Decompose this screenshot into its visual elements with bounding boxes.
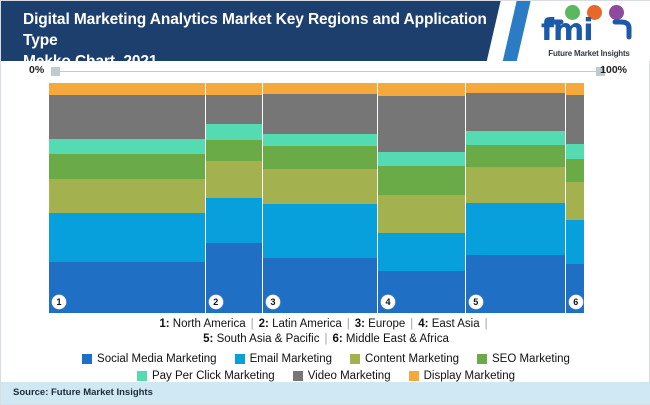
mekko-segment [263, 258, 377, 313]
region-key-separator: | [480, 318, 493, 330]
source-bar: Source: Future Market Insights [1, 382, 650, 404]
mekko-segment [49, 213, 205, 262]
mekko-segment [566, 159, 584, 182]
region-key-number: 5: [203, 333, 213, 345]
region-key-row-1: 1: North America|2: Latin America|3: Eur… [1, 317, 650, 332]
legend-label: Content Marketing [365, 353, 459, 365]
legend-item[interactable]: SEO Marketing [477, 353, 570, 365]
mekko-segment [49, 139, 205, 154]
legend-item[interactable]: Display Marketing [409, 370, 515, 382]
legend-item[interactable]: Email Marketing [235, 353, 332, 365]
mekko-segment [206, 124, 262, 140]
mekko-segment [206, 83, 262, 95]
legend-swatch-icon [409, 371, 419, 381]
mekko-segment [263, 146, 377, 169]
legend-label: Display Marketing [424, 370, 515, 382]
column-number-badge: 3 [266, 295, 280, 309]
mekko-segment [466, 83, 565, 93]
legend-swatch-icon [137, 371, 147, 381]
mekko-segment [466, 145, 565, 167]
mekko-column: 6 [566, 83, 584, 313]
legend-swatch-icon [293, 371, 303, 381]
column-number-badge: 5 [469, 295, 483, 309]
mekko-segment [378, 83, 465, 96]
legend-label: Email Marketing [250, 353, 332, 365]
region-key-number: 3: [355, 318, 365, 330]
mekko-segment [566, 220, 584, 264]
logo-tagline: Future Market Insights [535, 49, 643, 58]
region-key-label: Latin America [269, 318, 342, 330]
legend-item[interactable]: Social Media Marketing [82, 353, 217, 365]
mekko-segment [263, 204, 377, 259]
region-key-separator: | [342, 318, 355, 330]
mekko-segment [466, 167, 565, 203]
mekko-chart: 123456 [49, 83, 584, 313]
mekko-segment [206, 95, 262, 124]
region-key-separator: | [320, 333, 333, 345]
mekko-segment [378, 152, 465, 166]
mekko-segment [206, 198, 262, 243]
mekko-segment [206, 140, 262, 161]
axis-line [57, 71, 597, 72]
mekko-segment [49, 154, 205, 179]
legend-swatch-icon [350, 354, 360, 364]
legend-label: Video Marketing [308, 370, 391, 382]
mekko-segment [378, 233, 465, 271]
region-key-number: 6: [333, 333, 343, 345]
legend-swatch-icon [82, 354, 92, 364]
legend-label: Pay Per Click Marketing [152, 370, 275, 382]
mekko-segment [263, 134, 377, 146]
mekko-column: 5 [466, 83, 566, 313]
page-title: Digital Marketing Analytics Market Key R… [23, 9, 523, 61]
mekko-segment [566, 144, 584, 159]
mekko-segment [566, 182, 584, 220]
mekko-segment [263, 169, 377, 204]
region-key-label: Middle East & Africa [343, 333, 449, 345]
legend-label: Social Media Marketing [97, 353, 217, 365]
mekko-segment [378, 166, 465, 195]
mekko-segment [49, 262, 205, 313]
region-key-row-2: 5: South Asia & Pacific|6: Middle East &… [1, 332, 650, 347]
mekko-column: 4 [378, 83, 466, 313]
legend-swatch-icon [477, 354, 487, 364]
header-banner: Digital Marketing Analytics Market Key R… [1, 1, 650, 61]
fmi-logo: fmi Future Market Insights [531, 5, 643, 59]
mekko-segment [49, 83, 205, 95]
region-key-number: 2: [259, 318, 269, 330]
region-key-label: North America [170, 318, 246, 330]
mekko-column: 3 [263, 83, 378, 313]
mekko-segment [378, 195, 465, 233]
mekko-segment [566, 95, 584, 144]
chart-legend: Social Media MarketingEmail MarketingCon… [1, 350, 650, 384]
logo-wordmark: fmi [541, 13, 593, 48]
legend-item[interactable]: Video Marketing [293, 370, 391, 382]
column-number-badge: 4 [381, 295, 395, 309]
region-key-label: East Asia [429, 318, 480, 330]
source-text: Source: Future Market Insights [13, 387, 153, 398]
mekko-segment [566, 83, 584, 95]
percent-axis: 0% 100% [1, 63, 650, 81]
mekko-segment [49, 179, 205, 213]
legend-label: SEO Marketing [492, 353, 570, 365]
mekko-segment [466, 131, 565, 145]
mekko-segment [466, 93, 565, 131]
region-key-number: 4: [418, 318, 428, 330]
column-number-badge: 2 [209, 295, 223, 309]
axis-label-min: 0% [29, 64, 44, 76]
page-title-line-1: Digital Marketing Analytics Market Key R… [23, 9, 523, 51]
region-key: 1: North America|2: Latin America|3: Eur… [1, 317, 650, 347]
region-key-label: Europe [365, 318, 405, 330]
region-key-separator: | [246, 318, 259, 330]
mekko-segment [206, 161, 262, 198]
mekko-segment [49, 95, 205, 139]
mekko-column: 2 [206, 83, 263, 313]
column-number-badge: 6 [569, 295, 583, 309]
mekko-segment [263, 94, 377, 134]
mekko-segment [466, 203, 565, 255]
legend-item[interactable]: Content Marketing [350, 353, 459, 365]
mekko-segment [263, 83, 377, 94]
region-key-separator: | [405, 318, 418, 330]
legend-swatch-icon [235, 354, 245, 364]
legend-row-1: Social Media MarketingEmail MarketingCon… [1, 350, 650, 367]
region-key-label: South Asia & Pacific [213, 333, 319, 345]
region-key-number: 1: [159, 318, 169, 330]
infographic-page: Digital Marketing Analytics Market Key R… [0, 0, 650, 405]
mekko-column: 1 [49, 83, 206, 313]
axis-label-max: 100% [600, 64, 627, 76]
mekko-segment [378, 96, 465, 152]
legend-item[interactable]: Pay Per Click Marketing [137, 370, 275, 382]
column-number-badge: 1 [52, 295, 66, 309]
page-title-line-2: Mekko Chart, 2021 [23, 51, 523, 61]
